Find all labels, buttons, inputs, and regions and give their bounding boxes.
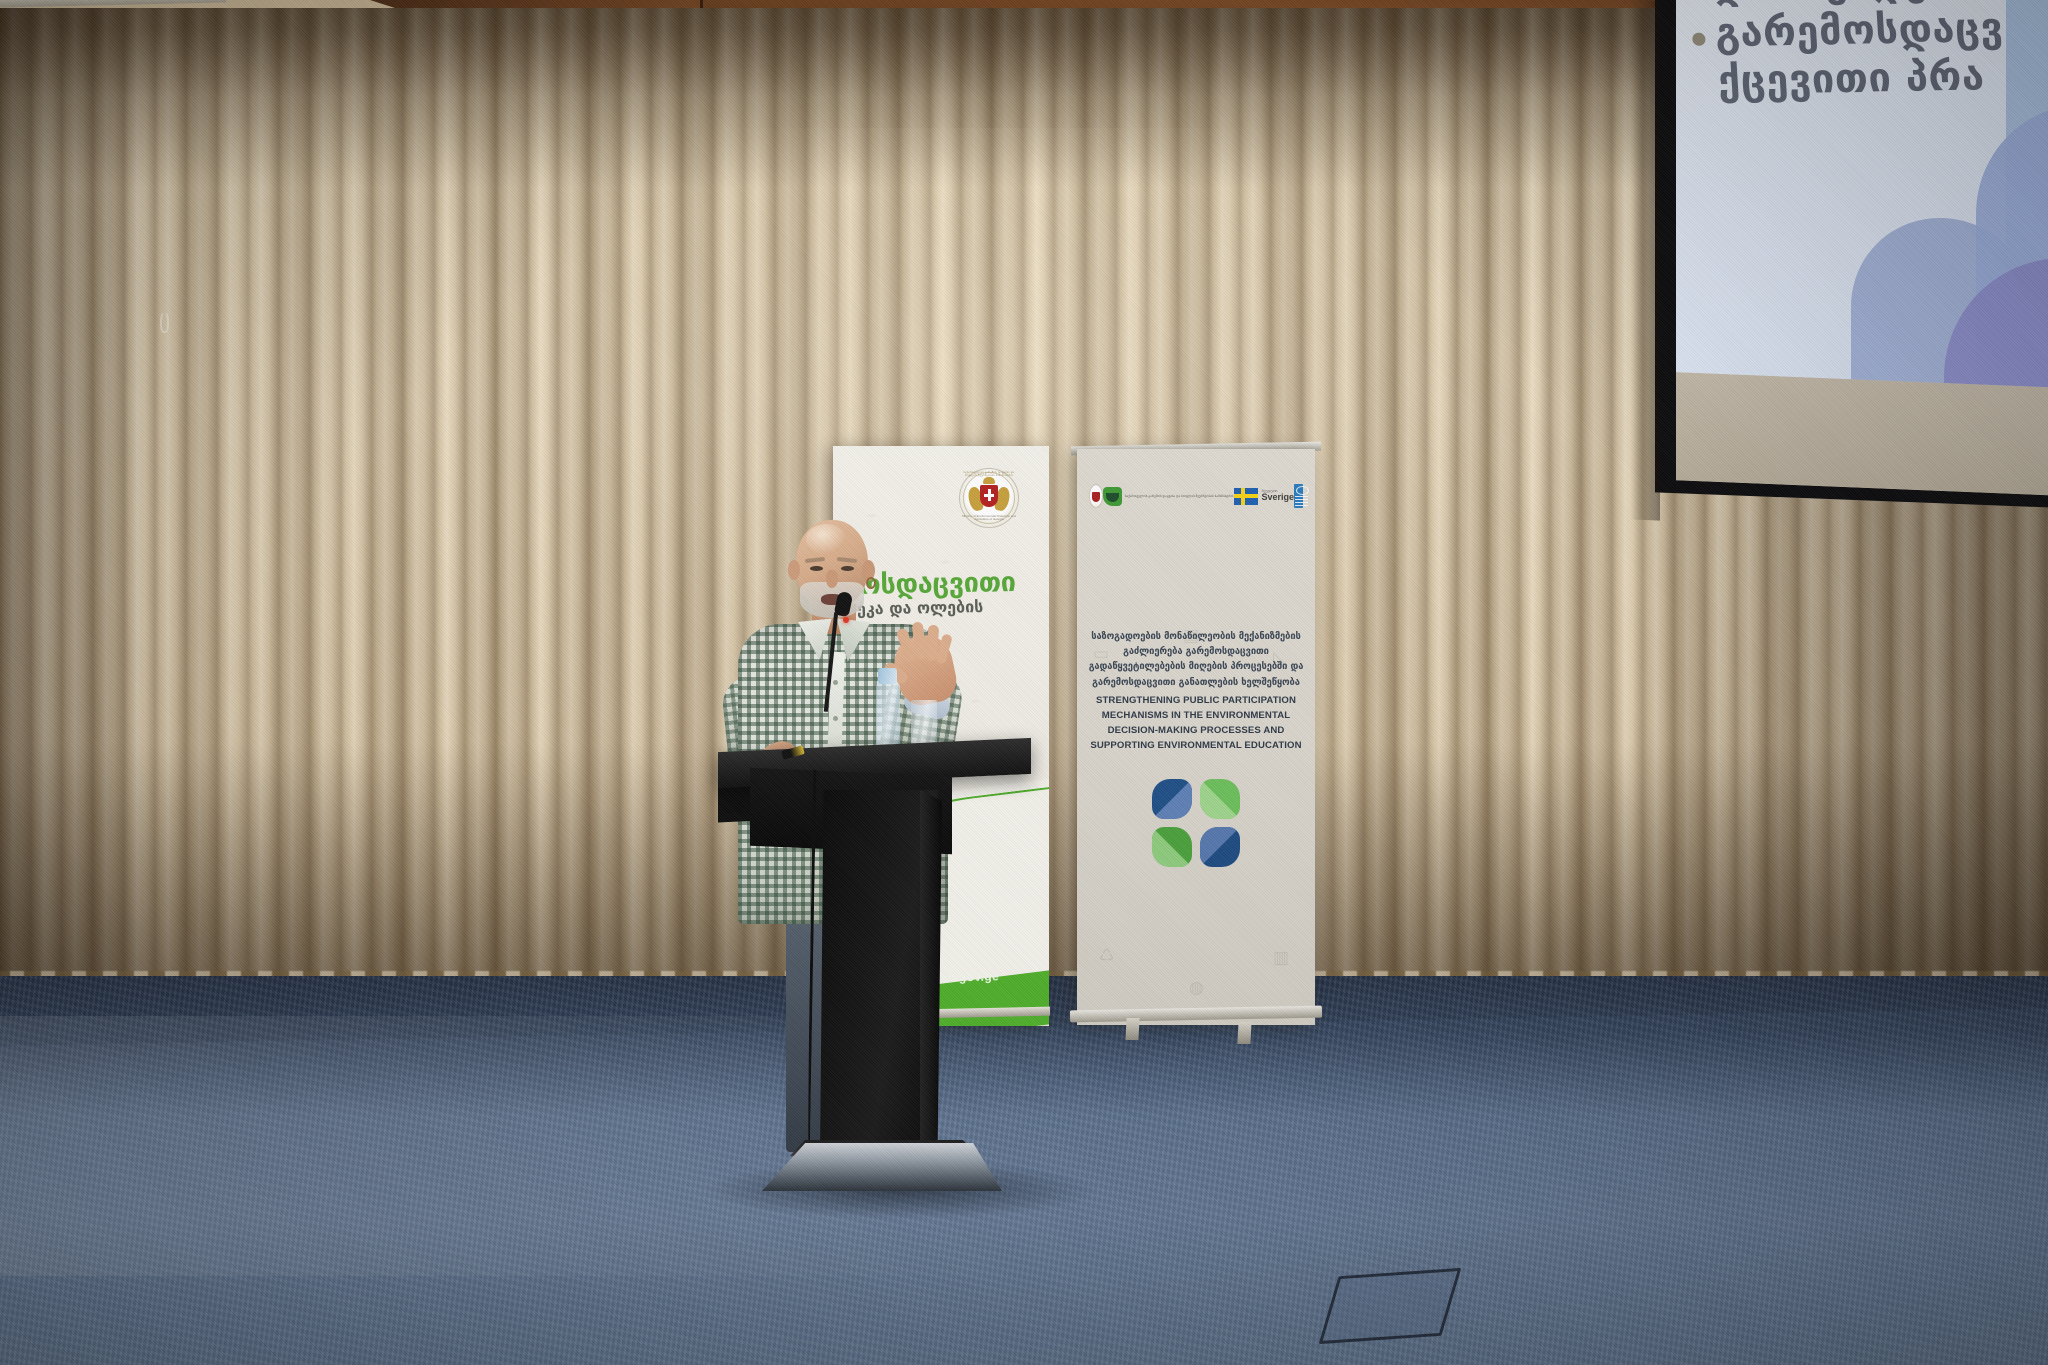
slide-secondary-text: ქცევითი პრა <box>1717 55 1986 102</box>
slide-text-block: დამოკიდე გარემოსდაცვ ქცევითი პრა <box>1688 0 2048 109</box>
slide-bullet-row: გარემოსდაცვ <box>1691 5 2048 55</box>
banner-right-title-georgian: საზოგადოების მონაწილეობის მექანიზმების გ… <box>1085 629 1307 690</box>
presenter-eye-right <box>841 566 854 571</box>
screen-blank-area <box>1676 372 2048 495</box>
presenter-scalp-highlight <box>806 524 846 554</box>
screen-edge-shadow <box>1630 0 1660 521</box>
banner-right-foot-right <box>1237 1022 1251 1044</box>
emblem-shield-icon <box>980 485 998 507</box>
petal-top-left <box>1152 779 1192 819</box>
curtain-hook-icon <box>160 311 169 333</box>
presenter-eye-left <box>810 566 823 571</box>
carpet-light-sheen <box>0 1016 2048 1276</box>
petal-bottom-right <box>1200 827 1240 867</box>
globe-icon: ◍ <box>1189 979 1204 996</box>
project-rollup-banner: საქართველოს გარემოს დაცვისა და სოფლის მე… <box>1077 449 1315 1025</box>
petal-bottom-left <box>1152 827 1192 867</box>
recycle-icon: ♺ <box>1099 947 1114 964</box>
projection-screen: დამოკიდე გარემოსდაცვ ქცევითი პრა <box>1676 0 2048 496</box>
petal-top-right <box>1200 779 1240 819</box>
four-petal-logo-icon <box>1152 779 1240 867</box>
presentation-icon: ▥ <box>1273 949 1289 966</box>
emblem-crown-icon <box>983 477 995 484</box>
presenter-nose <box>826 570 838 588</box>
shirt-button <box>833 716 838 721</box>
presentation-slide: დამოკიდე გარემოსდაცვ ქცევითი პრა <box>1676 0 2048 388</box>
slide-bullet-text-1: დამოკიდე <box>1711 0 1928 6</box>
georgia-coat-of-arms-icon: საქართველოს გარემოს დაცვისა და სოფლის მე… <box>959 468 1019 528</box>
floor-outlet-box <box>1319 1268 1462 1344</box>
microphone-led-indicator <box>843 617 849 623</box>
curtain-left-shadow <box>0 8 160 993</box>
presenter-ear-left <box>788 560 800 580</box>
photo-scene: დამოკიდე გარემოსდაცვ ქცევითი პრა საქართვ… <box>0 0 2048 1365</box>
bullet-dot-icon <box>1692 33 1706 46</box>
water-bottle-cap <box>878 668 897 684</box>
earring-icon <box>866 577 876 589</box>
slide-bullet-text-2: გარემოსდაცვ <box>1714 7 2005 55</box>
banner-right-title-english: STRENGTHENING PUBLIC PARTICIPATION MECHA… <box>1085 694 1307 753</box>
shirt-button <box>833 680 838 685</box>
banner-right-foot-left <box>1125 1018 1139 1040</box>
slide-bullet-row: ქცევითი პრა <box>1694 53 2048 103</box>
